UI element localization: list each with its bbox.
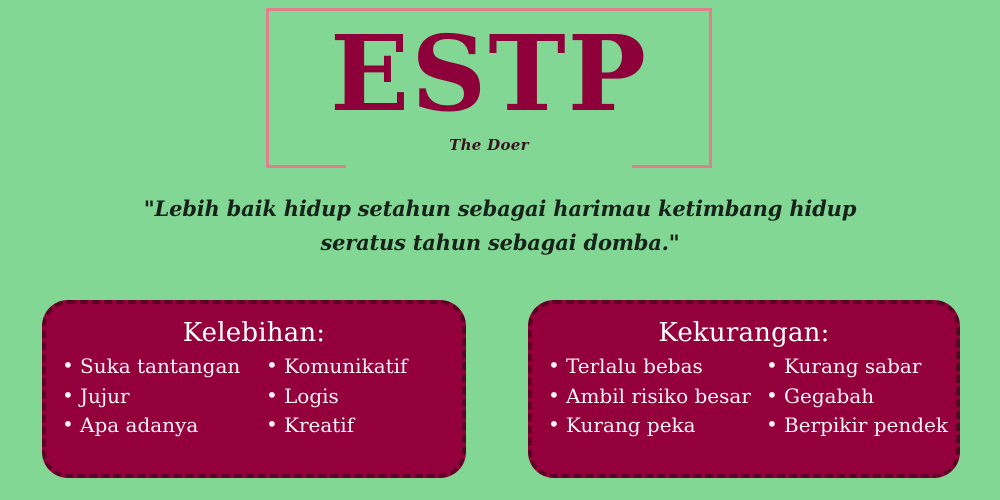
- strengths-column-b: Komunikatif Logis Kreatif: [264, 352, 444, 441]
- page-subtitle: The Doer: [266, 136, 712, 154]
- page-title: ESTP: [266, 22, 712, 126]
- infographic-poster: ESTP The Doer "Lebih baik hidup setahun …: [0, 0, 1000, 500]
- weaknesses-heading: Kekurangan:: [532, 304, 956, 348]
- strengths-columns: Suka tantangan Jujur Apa adanya Komunika…: [46, 348, 462, 441]
- frame-bottom-right-edge: [632, 165, 712, 168]
- list-item: Apa adanya: [60, 411, 264, 441]
- weaknesses-columns: Terlalu bebas Ambil risiko besar Kurang …: [532, 348, 956, 441]
- quote-block: "Lebih baik hidup setahun sebagai harima…: [120, 192, 880, 260]
- quote-line-1: "Lebih baik hidup setahun sebagai harima…: [144, 196, 856, 221]
- list-item: Jujur: [60, 382, 264, 412]
- list-item: Gegabah: [764, 382, 954, 412]
- list-item: Suka tantangan: [60, 352, 264, 382]
- weaknesses-column-b: Kurang sabar Gegabah Berpikir pendek: [764, 352, 954, 441]
- list-item: Komunikatif: [264, 352, 444, 382]
- weaknesses-card: Kekurangan: Terlalu bebas Ambil risiko b…: [528, 300, 960, 478]
- list-item: Kurang sabar: [764, 352, 954, 382]
- frame-bottom-left-edge: [266, 165, 346, 168]
- strengths-heading: Kelebihan:: [46, 304, 462, 348]
- strengths-column-a: Suka tantangan Jujur Apa adanya: [46, 352, 264, 441]
- list-item: Logis: [264, 382, 444, 412]
- title-frame: ESTP The Doer: [266, 8, 712, 168]
- list-item: Kurang peka: [546, 411, 764, 441]
- list-item: Berpikir pendek: [764, 411, 954, 441]
- list-item: Ambil risiko besar: [546, 382, 764, 412]
- list-item: Kreatif: [264, 411, 444, 441]
- quote-line-2: seratus tahun sebagai domba.": [320, 230, 679, 255]
- strengths-card: Kelebihan: Suka tantangan Jujur Apa adan…: [42, 300, 466, 478]
- list-item: Terlalu bebas: [546, 352, 764, 382]
- weaknesses-column-a: Terlalu bebas Ambil risiko besar Kurang …: [532, 352, 764, 441]
- frame-top-edge: [266, 8, 712, 11]
